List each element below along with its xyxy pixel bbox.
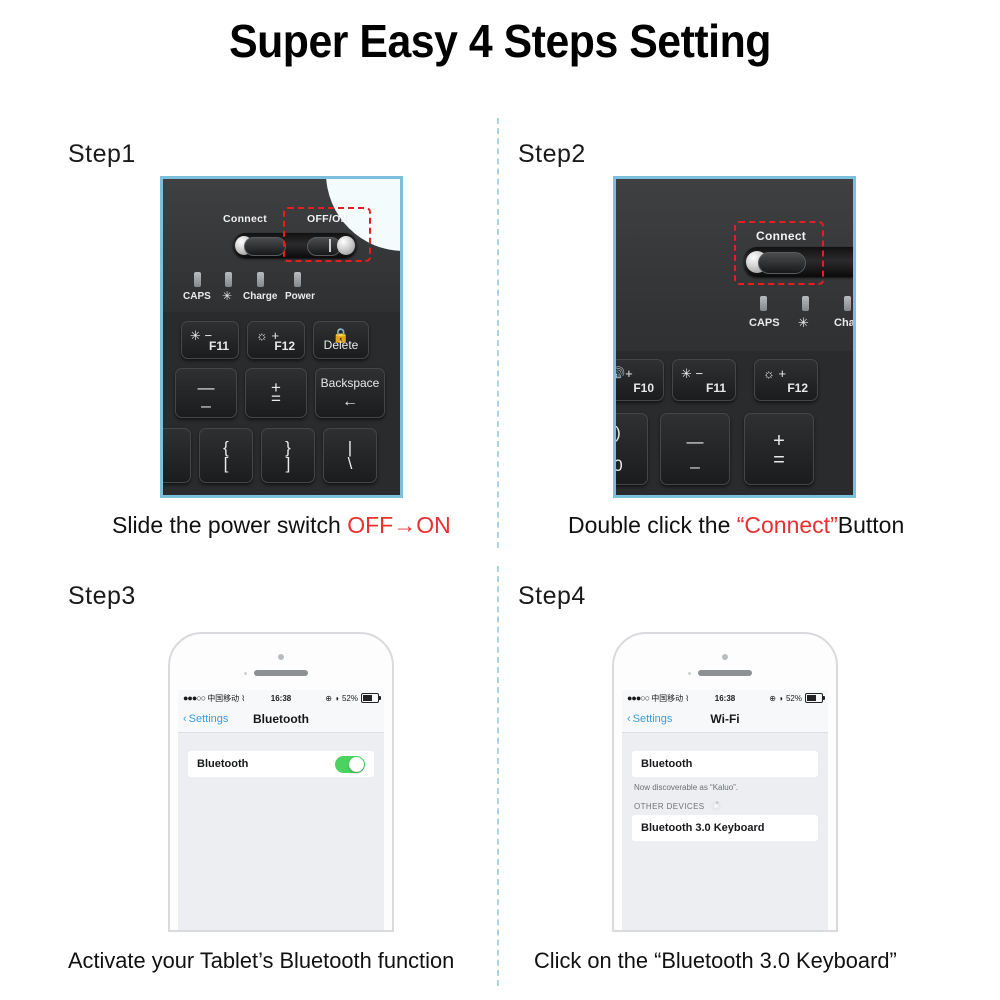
- step2-label: Step2: [518, 140, 586, 169]
- status-bar: ●●●○○ 中国移动 ⌇ 16:38 ⊕ ◑ 52%: [622, 690, 828, 706]
- infographic-page: Super Easy 4 Steps Setting Step1 Connect…: [0, 0, 1000, 1000]
- step3-caption: Activate your Tablet’s Bluetooth functio…: [68, 948, 454, 974]
- step1-caption-prefix: Slide the power switch: [112, 512, 347, 538]
- loading-spinner-icon: [711, 801, 721, 811]
- led-charge: [257, 272, 264, 287]
- device-row-bluetooth-keyboard[interactable]: Bluetooth 3.0 Keyboard: [632, 815, 818, 841]
- sensor-dot: [688, 672, 691, 675]
- keyboard-keys-area: ✳ − F11 ☼ + F12 🔒 Delete — _ + = Backspa…: [163, 312, 400, 495]
- step2-caption-highlight: “Connect”: [737, 512, 838, 538]
- key-zero-upper: ): [613, 423, 647, 443]
- led-label-charge: Cha: [834, 317, 855, 329]
- phone-screen: ●●●○○ 中国移动 ⌇ 16:38 ⊕ ◑ 52% ‹ Settings Bl…: [178, 690, 384, 930]
- page-title: Super Easy 4 Steps Setting: [35, 14, 965, 68]
- highlight-box-offon: [283, 207, 371, 262]
- key-equal[interactable]: + =: [245, 368, 307, 418]
- bluetooth-row[interactable]: Bluetooth: [632, 751, 818, 777]
- key-minus-lower: _: [661, 450, 729, 470]
- key-f12-label: F12: [274, 339, 295, 353]
- key-f11[interactable]: ✳ − F11: [181, 321, 239, 359]
- step2-keyboard-photo: Connect CAPS ✳ Cha 🔊+ F10 ✳ − F11: [613, 176, 856, 498]
- key-zero[interactable]: ) 0: [613, 413, 648, 485]
- step3-label: Step3: [68, 582, 136, 611]
- key-f11-icon: ✳ −: [681, 366, 703, 382]
- key-equal-lower: =: [246, 389, 306, 409]
- nav-title: Bluetooth: [178, 712, 384, 726]
- key-backspace-label: Backspace: [316, 376, 384, 390]
- camera-icon: [278, 654, 284, 660]
- key-minus-upper: —: [661, 432, 729, 452]
- sensor-dot: [244, 672, 247, 675]
- key-equal-lower: =: [745, 449, 813, 472]
- status-right: ⊕ ◑ 52%: [325, 693, 379, 703]
- key-minus-lower: _: [176, 389, 236, 409]
- step2-caption: Double click the “Connect”Button: [568, 512, 904, 539]
- step3-phone-mockup: ●●●○○ 中国移动 ⌇ 16:38 ⊕ ◑ 52% ‹ Settings Bl…: [168, 632, 394, 932]
- key-bracket-left[interactable]: { [: [199, 428, 253, 483]
- key-minus[interactable]: — _: [175, 368, 237, 418]
- nav-bar: ‹ Settings Bluetooth: [178, 706, 384, 733]
- speaker-slot: [254, 670, 308, 676]
- key-delete[interactable]: 🔒 Delete: [313, 321, 369, 359]
- speaker-slot: [698, 670, 752, 676]
- key-f10-label: F10: [633, 381, 654, 395]
- key-f12-label: F12: [787, 381, 808, 395]
- device-row-label: Bluetooth 3.0 Keyboard: [641, 822, 764, 834]
- led-bluetooth: [802, 296, 809, 311]
- connect-switch-knob[interactable]: [244, 237, 286, 256]
- bluetooth-icon: ✳: [798, 315, 809, 331]
- step1-caption: Slide the power switch OFF→ON: [112, 512, 451, 539]
- key-equal[interactable]: + =: [744, 413, 814, 485]
- key-f10-icon: 🔊+: [613, 366, 633, 382]
- status-icons: ⊕ ◑: [325, 694, 339, 703]
- key-f11-label: F11: [209, 339, 229, 353]
- step4-label: Step4: [518, 582, 586, 611]
- key-backspace[interactable]: Backspace ←: [315, 368, 385, 418]
- camera-icon: [722, 654, 728, 660]
- key-backslash[interactable]: | \: [323, 428, 377, 483]
- led-label-caps: CAPS: [183, 291, 211, 302]
- key-f12-icon: ☼ +: [763, 366, 786, 381]
- led-power: [294, 272, 301, 287]
- led-charge: [844, 296, 851, 311]
- nav-title: Wi-Fi: [622, 712, 828, 726]
- bluetooth-row-label: Bluetooth: [197, 758, 248, 770]
- bluetooth-row-label: Bluetooth: [641, 758, 692, 770]
- other-devices-header: OTHER DEVICES: [634, 801, 816, 811]
- led-caps: [194, 272, 201, 287]
- key-f11[interactable]: ✳ − F11: [672, 359, 736, 401]
- other-devices-label: OTHER DEVICES: [634, 802, 705, 811]
- step2-caption-prefix: Double click the: [568, 512, 737, 538]
- step1-keyboard-photo: Connect OFF/ON CAPS ✳ Charge Power ✳ −: [160, 176, 403, 498]
- bluetooth-toggle[interactable]: [335, 756, 365, 773]
- led-label-charge: Charge: [243, 291, 277, 302]
- key-minus[interactable]: — _: [660, 413, 730, 485]
- step1-caption-highlight: OFF→ON: [347, 512, 451, 538]
- key-f10[interactable]: 🔊+ F10: [613, 359, 664, 401]
- battery-icon: [805, 693, 823, 703]
- status-icons: ⊕ ◑: [769, 694, 783, 703]
- connect-switch-label: Connect: [223, 213, 267, 225]
- key-f11-label: F11: [706, 381, 726, 395]
- key-f12[interactable]: ☼ + F12: [754, 359, 818, 401]
- led-caps: [760, 296, 767, 311]
- status-bar: ●●●○○ 中国移动 ⌇ 16:38 ⊕ ◑ 52%: [178, 690, 384, 706]
- key-delete-label: Delete: [314, 338, 368, 352]
- divider-vertical-bottom: [497, 566, 499, 986]
- divider-vertical-top: [497, 118, 499, 548]
- nav-bar: ‹ Settings Wi-Fi: [622, 706, 828, 733]
- step4-caption: Click on the “Bluetooth 3.0 Keyboard”: [534, 948, 897, 974]
- key-p[interactable]: [160, 428, 191, 483]
- key-bracket-right-lower: ]: [262, 454, 314, 474]
- keyboard-top-panel: Connect CAPS ✳ Cha: [616, 179, 853, 351]
- led-label-power: Power: [285, 291, 315, 302]
- step1-label: Step1: [68, 140, 136, 169]
- bluetooth-icon: ✳: [222, 289, 232, 303]
- key-bracket-right[interactable]: } ]: [261, 428, 315, 483]
- keyboard-keys-area: 🔊+ F10 ✳ − F11 ☼ + F12 ) 0 — _ + =: [616, 351, 853, 495]
- battery-percent-label: 52%: [342, 694, 358, 703]
- status-right: ⊕ ◑ 52%: [769, 693, 823, 703]
- key-zero-lower: 0: [613, 456, 647, 476]
- highlight-box-connect: [734, 221, 824, 285]
- step2-caption-suffix: Button: [838, 512, 905, 538]
- battery-icon: [361, 693, 379, 703]
- keyboard-top-panel: Connect OFF/ON CAPS ✳ Charge Power: [163, 179, 400, 312]
- backspace-arrow-icon: ←: [316, 393, 384, 411]
- led-bluetooth: [225, 272, 232, 287]
- battery-percent-label: 52%: [786, 694, 802, 703]
- key-backslash-lower: \: [324, 454, 376, 474]
- discoverable-note: Now discoverable as “Kaluo”.: [634, 783, 816, 792]
- toggle-knob: [349, 757, 364, 772]
- key-bracket-left-lower: [: [200, 454, 252, 474]
- key-f12[interactable]: ☼ + F12: [247, 321, 305, 359]
- step4-phone-mockup: ●●●○○ 中国移动 ⌇ 16:38 ⊕ ◑ 52% ‹ Settings Wi…: [612, 632, 838, 932]
- led-label-caps: CAPS: [749, 317, 780, 329]
- phone-screen: ●●●○○ 中国移动 ⌇ 16:38 ⊕ ◑ 52% ‹ Settings Wi…: [622, 690, 828, 930]
- bluetooth-toggle-row[interactable]: Bluetooth: [188, 751, 374, 777]
